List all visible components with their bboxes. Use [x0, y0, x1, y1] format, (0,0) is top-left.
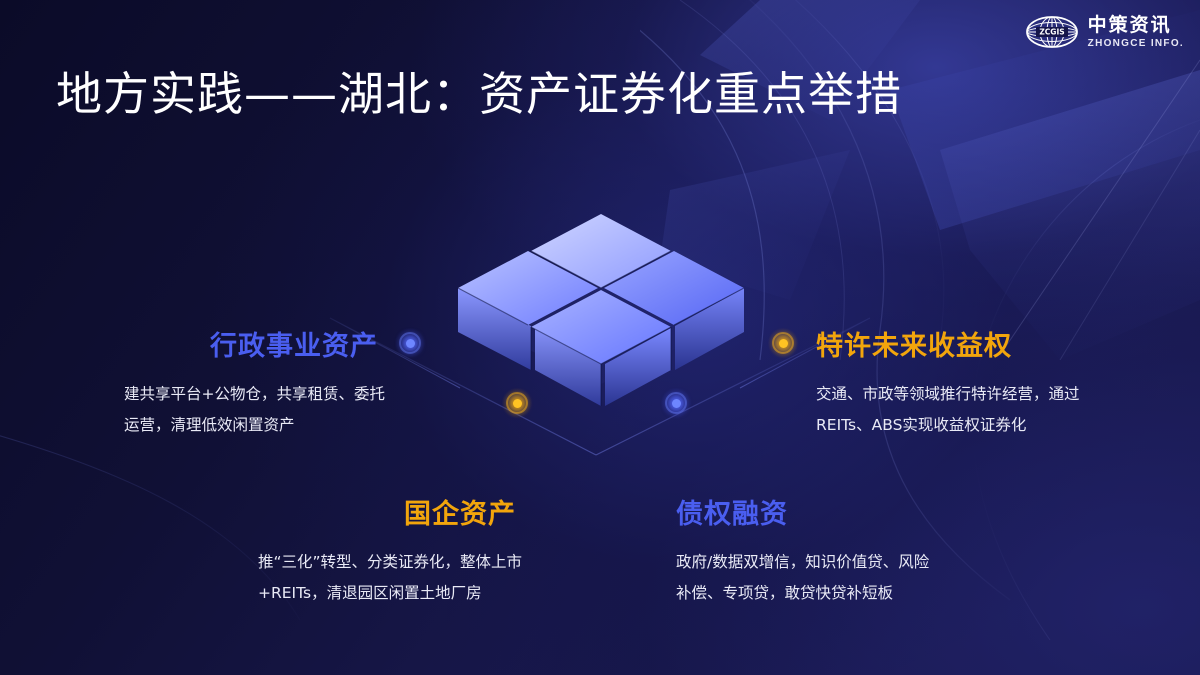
- slide-canvas: ZCGIS 中策资讯 ZHONGCE INFO. 地方实践——湖北：资产证券化重…: [0, 0, 1200, 675]
- isometric-cube-cluster: [436, 138, 766, 408]
- block-heading-state-owned-enterprise-assets: 国企资产: [258, 492, 524, 531]
- block-franchise-future-income-rights: 特许未来收益权 交通、市政等领域推行特许经营，通过REITs、ABS实现收益权证…: [816, 324, 1084, 441]
- block-heading-administrative-assets: 行政事业资产: [124, 324, 394, 363]
- brand-logo: ZCGIS 中策资讯 ZHONGCE INFO.: [1025, 12, 1184, 52]
- block-state-owned-enterprise-assets: 国企资产 推“三化”转型、分类证券化，整体上市+REITs，清退园区闲置土地厂房: [258, 492, 524, 609]
- zcgis-globe-icon: ZCGIS: [1025, 12, 1079, 52]
- block-body-franchise-future-income-rights: 交通、市政等领域推行特许经营，通过REITs、ABS实现收益权证券化: [816, 379, 1084, 441]
- node-debt-financing[interactable]: [661, 388, 691, 418]
- node-state-owned-enterprise-assets[interactable]: [502, 388, 532, 418]
- block-heading-debt-financing: 债权融资: [676, 492, 942, 531]
- node-core: [672, 399, 681, 408]
- block-heading-franchise-future-income-rights: 特许未来收益权: [816, 324, 1084, 363]
- block-administrative-assets: 行政事业资产 建共享平台+公物仓，共享租赁、委托运营，清理低效闲置资产: [124, 324, 394, 441]
- block-body-debt-financing: 政府/数据双增信，知识价值贷、风险补偿、专项贷，敢贷快贷补短板: [676, 547, 942, 609]
- block-body-state-owned-enterprise-assets: 推“三化”转型、分类证券化，整体上市+REITs，清退园区闲置土地厂房: [258, 547, 524, 609]
- node-core: [779, 339, 788, 348]
- node-core: [406, 339, 415, 348]
- node-administrative-assets[interactable]: [395, 328, 425, 358]
- node-core: [513, 399, 522, 408]
- logo-name-cn: 中策资讯: [1088, 16, 1184, 35]
- block-body-administrative-assets: 建共享平台+公物仓，共享租赁、委托运营，清理低效闲置资产: [124, 379, 394, 441]
- logo-name-en: ZHONGCE INFO.: [1088, 39, 1184, 49]
- logo-mark-text: ZCGIS: [1039, 28, 1064, 37]
- block-debt-financing: 债权融资 政府/数据双增信，知识价值贷、风险补偿、专项贷，敢贷快贷补短板: [676, 492, 942, 609]
- page-title: 地方实践——湖北：资产证券化重点举措: [56, 58, 902, 124]
- node-franchise-future-income-rights[interactable]: [768, 328, 798, 358]
